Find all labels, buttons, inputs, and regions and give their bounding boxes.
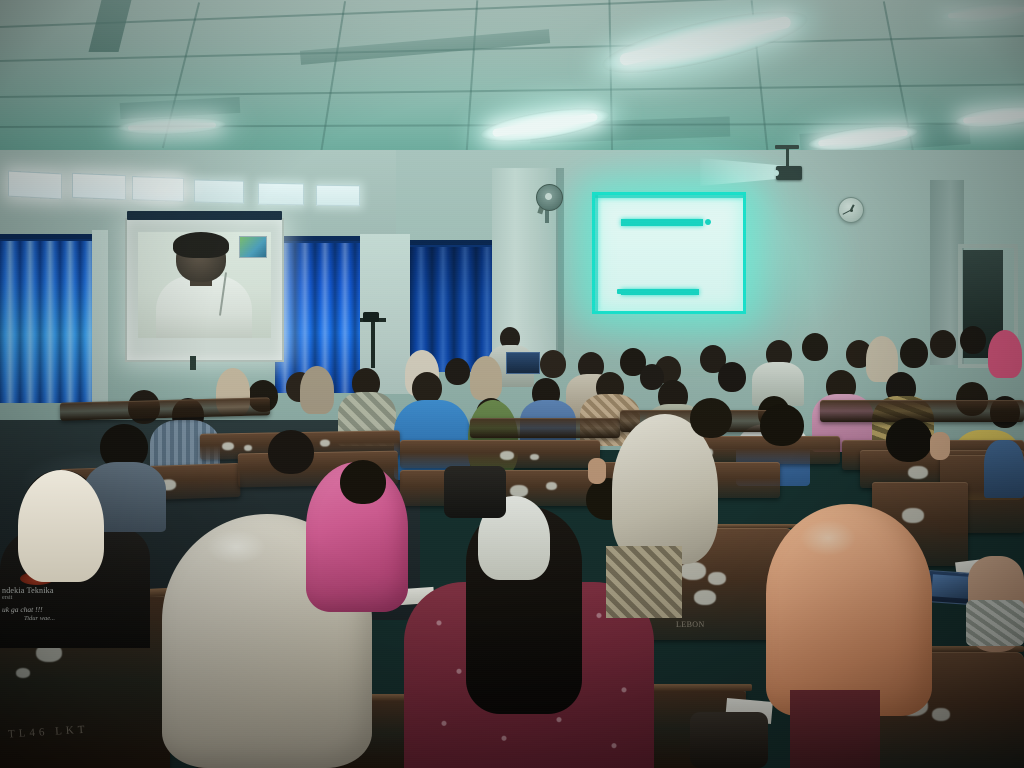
- person-head: [340, 460, 386, 504]
- curtain-rod-left: [0, 234, 92, 239]
- bench-desk-row: [400, 440, 600, 468]
- slide-title-bar: [621, 219, 703, 226]
- clock-center-pin: [850, 209, 853, 212]
- clerestory-window-1: [8, 171, 62, 200]
- tshirt-line-4: Tidur wae...: [24, 615, 122, 622]
- person-head: [268, 430, 314, 474]
- person-head: [802, 333, 828, 361]
- equipment-stand-pole: [371, 320, 375, 368]
- tshirt-line-1: ndekia Teknika: [2, 586, 122, 595]
- person-hand: [588, 458, 606, 484]
- equipment-stand-box: [363, 312, 379, 322]
- person-head: [886, 418, 932, 462]
- person-head: [690, 398, 732, 438]
- ceiling-duct: [89, 0, 132, 52]
- fluorescent-tube-6: [939, 0, 1024, 26]
- analog-wall-clock: [838, 197, 864, 223]
- ceiling-mounted-projector: [776, 166, 802, 180]
- hijab-peach-highlight: [800, 520, 856, 556]
- curtain-rod-center: [275, 236, 360, 241]
- slide-footer-marker: [617, 289, 622, 294]
- person-hijab: [470, 356, 502, 400]
- bag-on-floor: [690, 712, 768, 768]
- window-curtain-left: [0, 238, 92, 403]
- person-hand-raised: [930, 432, 950, 460]
- person-head: [930, 330, 956, 358]
- tshirt-line-3: uk ga chat !!!: [2, 606, 122, 615]
- person-hijab-cream-left: [18, 470, 104, 582]
- person-head: [760, 404, 804, 446]
- window-glare: [118, 168, 206, 210]
- slide-left-edge: [595, 195, 598, 311]
- slide-footer-bar: [621, 289, 699, 295]
- remote-speaker-hair: [173, 232, 229, 258]
- fluorescent-tube-5: [118, 116, 226, 136]
- wall-strip-1: [92, 230, 108, 405]
- video-call-feed: [138, 232, 271, 338]
- lecture-hall-photo: BM 39 SOLO LEBON TL46 LKT: [0, 0, 1024, 768]
- slide-top-edge: [595, 195, 743, 198]
- presentation-slide-screen: [592, 192, 746, 314]
- ceiling-panel-dark: [120, 97, 241, 119]
- self-view-thumbnail: [239, 236, 267, 258]
- person-head: [540, 350, 566, 378]
- slide-title-dot: [705, 219, 711, 225]
- tshirt-line-2: ersit: [2, 595, 122, 602]
- person-hijab: [300, 366, 334, 414]
- person-head: [445, 358, 470, 385]
- screen-stand: [190, 356, 196, 370]
- curtain-rod-right: [410, 240, 492, 245]
- projector-mount-arm: [786, 148, 789, 168]
- person-body-blue-right: [984, 440, 1024, 498]
- person-hijab-pink: [988, 330, 1022, 378]
- person-head: [718, 362, 746, 392]
- person-checkered-skirt: [606, 546, 682, 618]
- screen-top-bar: [127, 211, 282, 220]
- bench-desk-row: [820, 400, 1024, 422]
- person-skirt: [790, 690, 880, 768]
- video-conference-screen: [125, 218, 284, 362]
- tshirt-print-text: ndekia Teknika ersit uk ga chat !!! Tidu…: [2, 586, 122, 622]
- clerestory-window-6: [316, 185, 360, 207]
- person-head: [900, 338, 928, 368]
- fan-hub: [545, 193, 552, 200]
- bench-desk-row: [470, 418, 620, 438]
- person-sleeve: [966, 600, 1024, 646]
- projector-lens: [774, 170, 779, 176]
- operator-laptop: [506, 352, 540, 374]
- bag-on-desk: [444, 466, 506, 518]
- person-head: [960, 326, 986, 354]
- hijab-fold-highlight: [206, 530, 266, 564]
- clerestory-window-5: [258, 183, 304, 206]
- bench-carving: LEBON: [676, 620, 705, 629]
